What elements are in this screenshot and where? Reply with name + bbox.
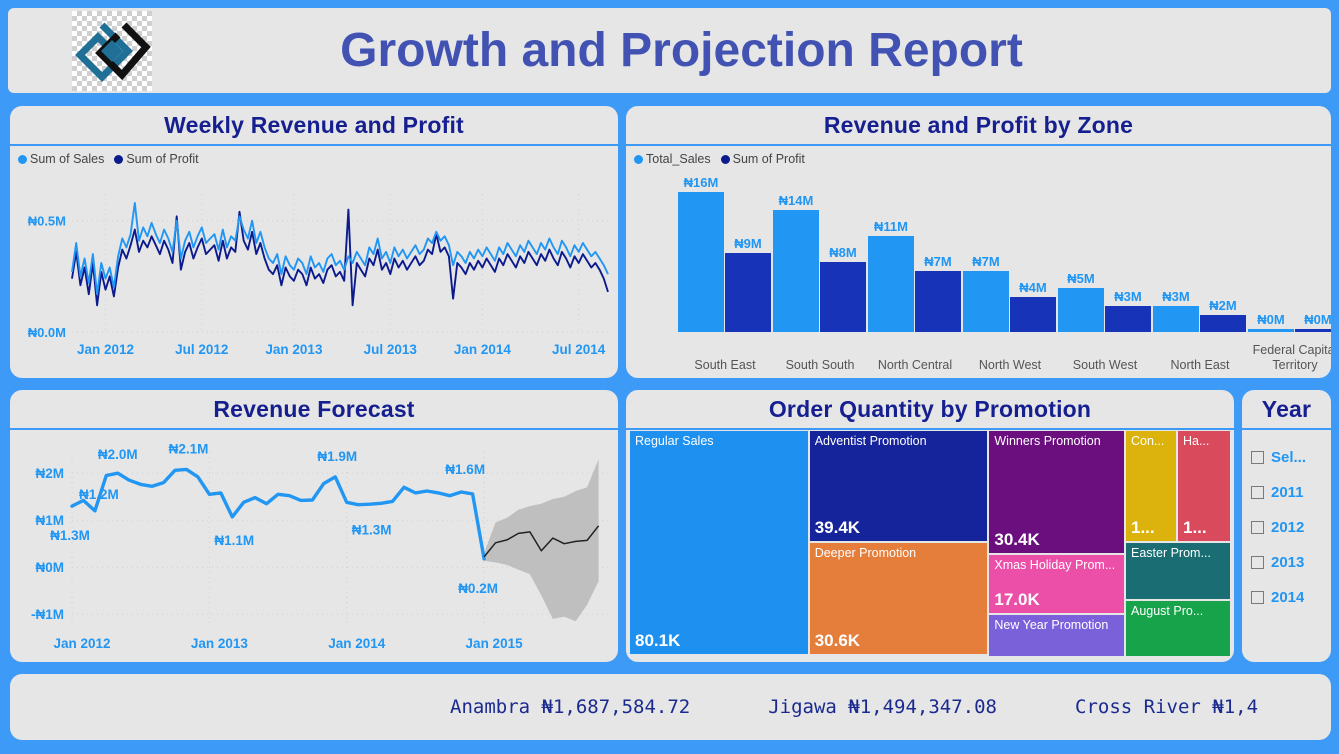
bar-group[interactable]: ₦7M₦4M bbox=[963, 271, 1056, 332]
treemap-tile-value: 1... bbox=[1131, 518, 1155, 538]
treemap-tile-label: Regular Sales bbox=[635, 435, 803, 449]
ticker-item: Anambra ₦1,687,584.72 bbox=[450, 696, 690, 718]
legend-dot-icon bbox=[114, 155, 123, 164]
order-quantity-by-promotion-card: Order Quantity by Promotion Regular Sale… bbox=[626, 390, 1234, 662]
legend-label: Sum of Sales bbox=[30, 152, 104, 166]
bar-sum-of-profit[interactable]: ₦9M bbox=[725, 253, 771, 332]
bar-value-label: ₦14M bbox=[779, 193, 814, 210]
svg-text:₦1.3M: ₦1.3M bbox=[352, 523, 392, 538]
bar-group[interactable]: ₦0M₦0M bbox=[1248, 329, 1331, 332]
legend-dot-icon bbox=[18, 155, 27, 164]
treemap-card-title: Order Quantity by Promotion bbox=[626, 390, 1234, 430]
svg-text:₦1.2M: ₦1.2M bbox=[79, 487, 119, 502]
weekly-card-title: Weekly Revenue and Profit bbox=[10, 106, 618, 146]
svg-text:₦2.0M: ₦2.0M bbox=[98, 447, 138, 462]
legend-label: Sum of Profit bbox=[733, 152, 805, 166]
weekly-legend: Sum of Sales Sum of Profit bbox=[10, 146, 618, 166]
svg-text:Jan 2014: Jan 2014 bbox=[454, 342, 512, 357]
bar-total-sales[interactable]: ₦0M bbox=[1248, 329, 1294, 332]
zone-bar-chart[interactable]: ₦16M₦9MSouth East₦14M₦8MSouth South₦11M₦… bbox=[626, 166, 1331, 374]
bar-group[interactable]: ₦11M₦7M bbox=[868, 236, 961, 332]
bar-value-label: ₦0M bbox=[1304, 312, 1331, 329]
bar-group[interactable]: ₦16M₦9M bbox=[678, 192, 771, 332]
treemap-subrow: Con...1...Ha...1... bbox=[1126, 431, 1230, 541]
bar-total-sales[interactable]: ₦5M bbox=[1058, 288, 1104, 332]
page-title: Growth and Projection Report bbox=[152, 23, 1211, 78]
weekly-plot-area[interactable]: ₦0.0M₦0.5MJan 2012Jul 2012Jan 2013Jul 20… bbox=[10, 166, 618, 378]
svg-text:₦2.1M: ₦2.1M bbox=[169, 441, 209, 456]
treemap-tile[interactable]: Adventist Promotion39.4K bbox=[810, 431, 988, 541]
legend-dot-icon bbox=[721, 155, 730, 164]
bar-total-sales[interactable]: ₦3M bbox=[1153, 306, 1199, 332]
treemap-tile-label: August Pro... bbox=[1131, 605, 1225, 619]
bar-value-label: ₦5M bbox=[1067, 271, 1094, 288]
checkbox-icon[interactable] bbox=[1251, 591, 1264, 604]
treemap-column: Con...1...Ha...1...Easter Prom...August … bbox=[1126, 431, 1230, 658]
revenue-forecast-card: Revenue Forecast ₦2M₦1M₦0M-₦1MJan 2012Ja… bbox=[10, 390, 618, 662]
treemap-column: Regular Sales80.1K bbox=[630, 431, 808, 658]
bar-total-sales[interactable]: ₦14M bbox=[773, 210, 819, 333]
treemap-tile-value: 1... bbox=[1183, 518, 1207, 538]
bar-total-sales[interactable]: ₦7M bbox=[963, 271, 1009, 332]
weekly-line-chart: ₦0.0M₦0.5MJan 2012Jul 2012Jan 2013Jul 20… bbox=[10, 166, 618, 378]
year-slicer-item-label: 2014 bbox=[1271, 589, 1304, 606]
state-revenue-ticker: Anambra ₦1,687,584.72Jigawa ₦1,494,347.0… bbox=[10, 674, 1331, 740]
ticker-item: Cross River ₦1,4 bbox=[1075, 696, 1258, 718]
bar-value-label: ₦4M bbox=[1019, 280, 1046, 297]
treemap-tile[interactable]: Winners Promotion30.4K bbox=[989, 431, 1124, 553]
bar-group[interactable]: ₦5M₦3M bbox=[1058, 288, 1151, 332]
revenue-profit-by-zone-card: Revenue and Profit by Zone Total_Sales S… bbox=[626, 106, 1331, 378]
bar-total-sales[interactable]: ₦11M bbox=[868, 236, 914, 332]
bar-value-label: ₦16M bbox=[684, 175, 719, 192]
treemap-tile[interactable]: August Pro... bbox=[1126, 601, 1230, 656]
legend-dot-icon bbox=[634, 155, 643, 164]
year-slicer-item-2014[interactable]: 2014 bbox=[1242, 580, 1331, 615]
svg-text:₦0M: ₦0M bbox=[35, 560, 64, 575]
promotion-treemap[interactable]: Regular Sales80.1KAdventist Promotion39.… bbox=[630, 431, 1230, 658]
treemap-tile[interactable]: Regular Sales80.1K bbox=[630, 431, 808, 654]
svg-text:Jan 2015: Jan 2015 bbox=[466, 636, 524, 651]
svg-text:₦1.9M: ₦1.9M bbox=[317, 449, 357, 464]
bar-value-label: ₦7M bbox=[972, 254, 999, 271]
company-logo bbox=[72, 11, 152, 91]
checkbox-icon[interactable] bbox=[1251, 451, 1264, 464]
legend-label: Total_Sales bbox=[646, 152, 711, 166]
bar-value-label: ₦2M bbox=[1209, 298, 1236, 315]
treemap-tile-label: New Year Promotion bbox=[994, 619, 1119, 633]
zone-category-label: South East bbox=[670, 358, 780, 372]
zone-category-label: North West bbox=[955, 358, 1065, 372]
svg-text:₦1.1M: ₦1.1M bbox=[214, 533, 254, 548]
treemap-tile-label: Adventist Promotion bbox=[815, 435, 983, 449]
treemap-column: Winners Promotion30.4KXmas Holiday Prom.… bbox=[989, 431, 1124, 658]
zone-legend: Total_Sales Sum of Profit bbox=[626, 146, 1331, 166]
svg-text:₦1M: ₦1M bbox=[35, 513, 64, 528]
svg-text:Jan 2013: Jan 2013 bbox=[265, 342, 323, 357]
forecast-line-chart: ₦2M₦1M₦0M-₦1MJan 2012Jan 2013Jan 2014Jan… bbox=[10, 430, 618, 658]
zone-category-label: South West bbox=[1050, 358, 1160, 372]
year-slicer-list[interactable]: Sel...2011201220132014 bbox=[1242, 430, 1331, 615]
report-header: Growth and Projection Report bbox=[8, 8, 1331, 93]
svg-text:₦2M: ₦2M bbox=[35, 466, 64, 481]
treemap-tile-value: 30.4K bbox=[994, 530, 1039, 550]
treemap-tile-label: Winners Promotion bbox=[994, 435, 1119, 449]
bar-total-sales[interactable]: ₦16M bbox=[678, 192, 724, 332]
zone-category-label: South South bbox=[765, 358, 875, 372]
year-slicer-title: Year bbox=[1242, 390, 1331, 430]
state-revenue-ticker-card: Anambra ₦1,687,584.72Jigawa ₦1,494,347.0… bbox=[10, 674, 1331, 740]
treemap-tile-value: 30.6K bbox=[815, 631, 860, 651]
bar-sum-of-profit[interactable]: ₦0M bbox=[1295, 329, 1331, 332]
treemap-tile[interactable]: Ha...1... bbox=[1178, 431, 1230, 541]
bar-value-label: ₦0M bbox=[1257, 312, 1284, 329]
year-slicer-item-label: 2012 bbox=[1271, 519, 1304, 536]
year-slicer-item-label: 2011 bbox=[1271, 484, 1304, 501]
bar-value-label: ₦8M bbox=[829, 245, 856, 262]
bar-sum-of-profit[interactable]: ₦2M bbox=[1200, 315, 1246, 333]
treemap-tile[interactable]: Deeper Promotion30.6K bbox=[810, 543, 988, 654]
bar-value-label: ₦11M bbox=[874, 219, 908, 236]
year-slicer-card: Year Sel...2011201220132014 bbox=[1242, 390, 1331, 662]
forecast-plot-area[interactable]: ₦2M₦1M₦0M-₦1MJan 2012Jan 2013Jan 2014Jan… bbox=[10, 430, 618, 658]
bar-sum-of-profit[interactable]: ₦7M bbox=[915, 271, 961, 332]
treemap-tile[interactable]: Xmas Holiday Prom...17.0K bbox=[989, 555, 1124, 613]
bar-sum-of-profit[interactable]: ₦4M bbox=[1010, 297, 1056, 332]
checkbox-icon[interactable] bbox=[1251, 521, 1264, 534]
legend-item-sum-of-sales[interactable]: Sum of Sales bbox=[18, 152, 104, 166]
treemap-tile-value: 80.1K bbox=[635, 631, 680, 651]
svg-text:₦1.3M: ₦1.3M bbox=[50, 528, 90, 543]
bar-sum-of-profit[interactable]: ₦3M bbox=[1105, 306, 1151, 332]
dashboard-root: Growth and Projection Report Weekly Reve… bbox=[0, 0, 1339, 754]
svg-text:Jan 2013: Jan 2013 bbox=[191, 636, 249, 651]
treemap-tile-value: 17.0K bbox=[994, 590, 1039, 610]
treemap-tile-label: Ha... bbox=[1183, 435, 1225, 449]
svg-text:Jan 2014: Jan 2014 bbox=[328, 636, 386, 651]
year-slicer-item-2013[interactable]: 2013 bbox=[1242, 545, 1331, 580]
treemap-tile-label: Xmas Holiday Prom... bbox=[994, 559, 1119, 573]
weekly-revenue-profit-card: Weekly Revenue and Profit Sum of Sales S… bbox=[10, 106, 618, 378]
zone-category-label: North Central bbox=[860, 358, 970, 372]
treemap-tile[interactable]: Easter Prom... bbox=[1126, 543, 1230, 599]
treemap-tile-label: Deeper Promotion bbox=[815, 547, 983, 561]
svg-text:Jul 2013: Jul 2013 bbox=[364, 342, 418, 357]
legend-item-sum-of-profit[interactable]: Sum of Profit bbox=[721, 152, 805, 166]
treemap-tile-label: Easter Prom... bbox=[1131, 547, 1225, 561]
ticker-item: Jigawa ₦1,494,347.08 bbox=[768, 696, 997, 718]
year-slicer-item-sel[interactable]: Sel... bbox=[1242, 440, 1331, 475]
checkbox-icon[interactable] bbox=[1251, 486, 1264, 499]
forecast-card-title: Revenue Forecast bbox=[10, 390, 618, 430]
zone-card-title: Revenue and Profit by Zone bbox=[626, 106, 1331, 146]
svg-text:₦1.6M: ₦1.6M bbox=[445, 462, 485, 477]
legend-label: Sum of Profit bbox=[126, 152, 198, 166]
bar-group[interactable]: ₦14M₦8M bbox=[773, 210, 866, 333]
bar-sum-of-profit[interactable]: ₦8M bbox=[820, 262, 866, 332]
svg-text:Jul 2012: Jul 2012 bbox=[175, 342, 228, 357]
year-slicer-item-2012[interactable]: 2012 bbox=[1242, 510, 1331, 545]
bar-value-label: ₦3M bbox=[1114, 289, 1141, 306]
year-slicer-item-label: 2013 bbox=[1271, 554, 1304, 571]
treemap-tile-label: Con... bbox=[1131, 435, 1171, 449]
treemap-tile-value: 39.4K bbox=[815, 518, 860, 538]
svg-text:-₦1M: -₦1M bbox=[31, 607, 64, 622]
bar-value-label: ₦7M bbox=[924, 254, 951, 271]
interlocking-diamonds-logo-icon bbox=[72, 11, 152, 91]
treemap-column: Adventist Promotion39.4KDeeper Promotion… bbox=[810, 431, 988, 658]
bar-group[interactable]: ₦3M₦2M bbox=[1153, 306, 1246, 332]
legend-item-total-sales[interactable]: Total_Sales bbox=[634, 152, 711, 166]
bar-value-label: ₦3M bbox=[1162, 289, 1189, 306]
svg-text:Jul 2014: Jul 2014 bbox=[552, 342, 606, 357]
zone-category-label: Federal Capital Territory bbox=[1240, 343, 1331, 372]
legend-item-sum-of-profit[interactable]: Sum of Profit bbox=[114, 152, 198, 166]
bar-value-label: ₦9M bbox=[734, 236, 761, 253]
year-slicer-item-2011[interactable]: 2011 bbox=[1242, 475, 1331, 510]
svg-text:₦0.2M: ₦0.2M bbox=[458, 581, 498, 596]
svg-text:₦0.5M: ₦0.5M bbox=[28, 214, 66, 229]
svg-text:₦0.0M: ₦0.0M bbox=[28, 325, 66, 340]
zone-category-label: North East bbox=[1145, 358, 1255, 372]
treemap-tile[interactable]: Con...1... bbox=[1126, 431, 1176, 541]
checkbox-icon[interactable] bbox=[1251, 556, 1264, 569]
year-slicer-item-label: Sel... bbox=[1271, 449, 1306, 466]
svg-text:Jan 2012: Jan 2012 bbox=[53, 636, 110, 651]
treemap-tile[interactable]: New Year Promotion bbox=[989, 615, 1124, 656]
svg-text:Jan 2012: Jan 2012 bbox=[77, 342, 134, 357]
